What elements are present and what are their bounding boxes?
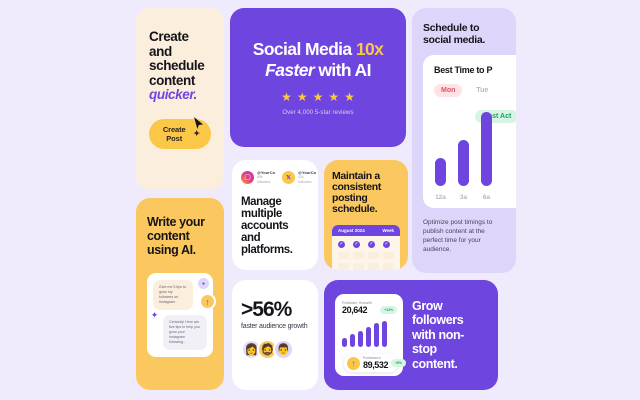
- followers-card-heading: Grow followers with non-stop content.: [412, 299, 487, 372]
- calendar-cell-checked[interactable]: ✓: [338, 241, 345, 248]
- growth-subtitle: faster audience growth: [241, 323, 309, 330]
- followers-heading-line-3: content.: [412, 357, 457, 371]
- growth-stat: >56%: [241, 298, 309, 322]
- followers-value: 89,532: [363, 360, 388, 370]
- manage-heading-line-1: Manage: [241, 196, 281, 208]
- hero-title-part1: Social Media: [253, 39, 356, 59]
- calendar-cell-empty[interactable]: [383, 263, 394, 270]
- star-icon: ★: [313, 91, 324, 103]
- star-icon: ★: [297, 91, 308, 103]
- star-icon: ★: [281, 91, 292, 103]
- maintain-schedule-card: Maintain a consistent posting schedule. …: [324, 160, 408, 270]
- calendar-widget: August 2024 Week ✓ ✓ ✓ ✓: [332, 225, 400, 270]
- analytics-bar: [374, 323, 379, 347]
- hero-title: Social Media 10x Faster with AI: [253, 39, 383, 81]
- hero-card: Social Media 10x Faster with AI ★ ★ ★ ★ …: [230, 8, 406, 147]
- analytics-bar: [358, 331, 363, 347]
- calendar-cell-empty[interactable]: [353, 252, 364, 259]
- schedule-card-heading: Schedule to social media.: [423, 22, 505, 46]
- manage-heading-line-4: platforms.: [241, 244, 293, 256]
- chat-bubble-ai: Certainly! Here are five tips to help yo…: [163, 315, 207, 350]
- hero-title-part2: with AI: [314, 60, 371, 80]
- poster-canvas: Create and schedule content quicker. Cre…: [0, 0, 640, 400]
- create-post-label: Create Post: [160, 125, 188, 143]
- analytics-bar: [342, 338, 347, 347]
- account-followers: 89k followers: [257, 175, 275, 184]
- create-schedule-card: Create and schedule content quicker. Cre…: [136, 8, 224, 190]
- chart-x-tick: 6a: [481, 194, 492, 201]
- create-heading-line-2: schedule: [149, 58, 204, 73]
- create-card-heading: Create and schedule content quicker.: [149, 30, 211, 103]
- create-heading-line-3: content: [149, 73, 195, 88]
- day-filter-group: Mon Tue: [434, 84, 516, 97]
- analytics-bar: [382, 321, 387, 347]
- create-heading-line-1: Create and: [149, 29, 189, 59]
- list-item[interactable]: 𝕩 @YourCo 42k followers: [282, 170, 316, 184]
- followers-badge: +8%: [391, 359, 406, 367]
- user-avatar-icon: ●: [198, 278, 209, 289]
- write-heading-line-1: Write your: [147, 215, 205, 229]
- calendar-cell-checked[interactable]: ✓: [368, 241, 375, 248]
- calendar-cell-checked[interactable]: ✓: [353, 241, 360, 248]
- reviews-text: Over 4,000 5-star reviews: [282, 110, 353, 116]
- calendar-view-toggle[interactable]: Week: [382, 228, 394, 233]
- arrow-up-icon[interactable]: ↑: [199, 293, 216, 310]
- maintain-card-heading: Maintain a consistent posting schedule.: [332, 171, 400, 215]
- chat-bubble-user: Give me 5 tips to grow my followers on I…: [153, 280, 193, 310]
- best-time-chart-card: Best Time to P Mon Tue Most Act 12a 3a 6…: [423, 55, 516, 208]
- write-content-card: Write your content using AI. Give me 5 t…: [136, 198, 224, 390]
- schedule-caption: Optimize post timings to publish content…: [423, 218, 505, 254]
- arrow-up-icon: ↑: [347, 357, 360, 370]
- calendar-cell-checked[interactable]: ✓: [383, 241, 390, 248]
- schedule-heading-line-1: Schedule to: [423, 22, 479, 34]
- manage-heading-line-2: multiple: [241, 208, 282, 220]
- avatar-group: 👩 🧔 👨: [241, 339, 309, 360]
- chart-bars: [435, 112, 492, 186]
- calendar-grid: ✓ ✓ ✓ ✓: [332, 236, 400, 270]
- chart-x-axis: 12a 3a 6a: [435, 194, 492, 201]
- calendar-header: August 2024 Week: [332, 225, 400, 236]
- star-rating: ★ ★ ★ ★ ★: [281, 91, 355, 103]
- write-heading-line-3: using AI.: [147, 243, 196, 257]
- chart-bar: [435, 158, 446, 186]
- write-card-heading: Write your content using AI.: [147, 215, 213, 257]
- write-heading-line-2: content: [147, 229, 189, 243]
- schedule-heading-line-2: social media.: [423, 34, 485, 46]
- chart-title: Best Time to P: [434, 65, 516, 75]
- grow-followers-card: Follower Growth 20,642 +12% ↑ Followers …: [324, 280, 498, 390]
- chart-bar: [458, 140, 469, 186]
- hero-title-italic: Faster: [265, 60, 314, 80]
- calendar-cell-empty[interactable]: [353, 263, 364, 270]
- sparkle-icon: ✦: [193, 130, 200, 138]
- followers-heading-line-2: with non-stop: [412, 328, 464, 357]
- analytics-badge: +12%: [380, 306, 397, 314]
- manage-heading-line-3: accounts and: [241, 220, 288, 244]
- maintain-heading-line-4: schedule.: [332, 203, 377, 215]
- instagram-icon: ▢: [241, 171, 254, 184]
- manage-accounts-card: ▢ @YourCo 89k followers 𝕩 @YourCo 42k fo…: [232, 160, 318, 270]
- audience-growth-card: >56% faster audience growth 👩 🧔 👨: [232, 280, 318, 390]
- followers-heading-line-1: Grow followers: [412, 299, 463, 328]
- chart-x-tick: 3a: [458, 194, 469, 201]
- calendar-cell-empty[interactable]: [383, 252, 394, 259]
- day-pill-tue[interactable]: Tue: [469, 84, 495, 97]
- chart-bar: [481, 112, 492, 186]
- calendar-cell-empty[interactable]: [338, 252, 349, 259]
- day-pill-mon[interactable]: Mon: [434, 84, 462, 97]
- create-heading-accent: quicker.: [149, 87, 197, 102]
- account-followers: 42k followers: [298, 175, 316, 184]
- analytics-bar: [366, 327, 371, 347]
- ai-chat-widget: Give me 5 tips to grow my followers on I…: [147, 273, 213, 357]
- list-item[interactable]: ▢ @YourCo 89k followers: [241, 170, 275, 184]
- cursor-arrow-icon: [192, 116, 206, 130]
- analytics-value: 20,642: [342, 305, 367, 315]
- schedule-social-card: Schedule to social media. Best Time to P…: [412, 8, 516, 273]
- avatar: 👨: [273, 339, 294, 360]
- calendar-cell-empty[interactable]: [338, 263, 349, 270]
- analytics-widget: Follower Growth 20,642 +12% ↑ Followers …: [335, 294, 403, 376]
- calendar-cell-empty[interactable]: [368, 263, 379, 270]
- chart-x-tick: 12a: [435, 194, 446, 201]
- followers-summary: ↑ Followers 89,532 +8%: [344, 354, 398, 372]
- hero-title-number: 10x: [356, 39, 383, 59]
- x-twitter-icon: 𝕩: [282, 171, 295, 184]
- star-icon: ★: [344, 91, 355, 103]
- account-list: ▢ @YourCo 89k followers 𝕩 @YourCo 42k fo…: [241, 170, 309, 184]
- star-icon: ★: [328, 91, 339, 103]
- calendar-month-label: August 2024: [338, 228, 365, 233]
- manage-card-heading: Manage multiple accounts and platforms.: [241, 196, 309, 256]
- ai-sparkle-icon: ✦: [149, 310, 160, 321]
- analytics-bars: [342, 321, 397, 347]
- calendar-cell-empty[interactable]: [368, 252, 379, 259]
- analytics-bar: [350, 334, 355, 347]
